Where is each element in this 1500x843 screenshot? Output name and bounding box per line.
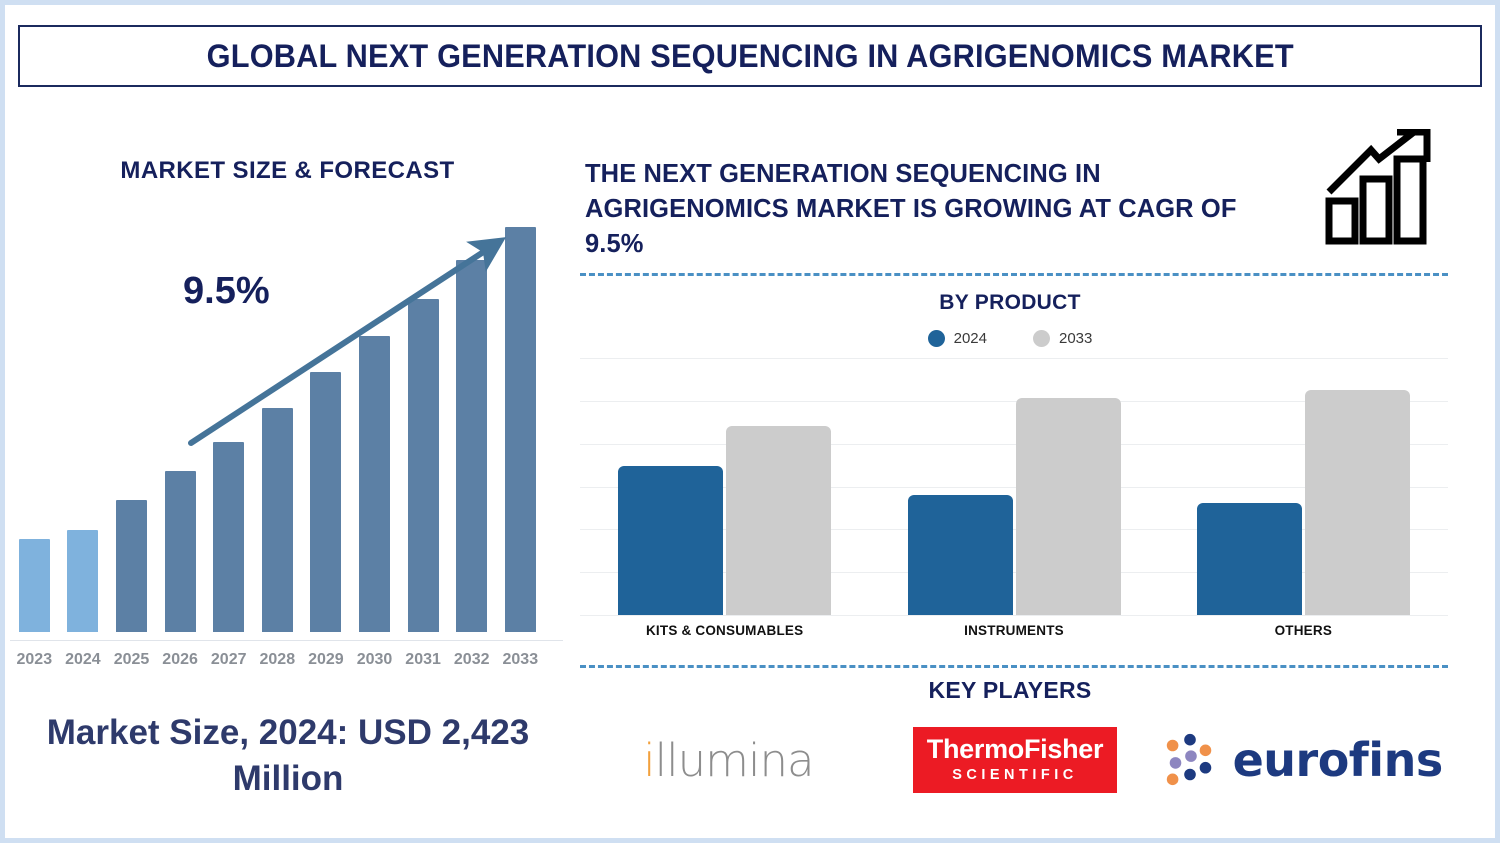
forecast-bar	[213, 442, 244, 632]
thermofisher-logo-line1: ThermoFisher	[927, 736, 1103, 763]
forecast-bar	[456, 260, 487, 632]
chart-legend: 20242033	[575, 330, 1445, 347]
forecast-year-label: 2032	[444, 651, 500, 669]
by-product-title: BY PRODUCT	[575, 291, 1445, 315]
by-product-chart	[580, 358, 1448, 615]
details-panel: THE NEXT GENERATION SEQUENCING IN AGRIGE…	[575, 115, 1495, 840]
category-label: KITS & CONSUMABLES	[580, 623, 869, 638]
legend-item: 2024	[928, 330, 987, 347]
eurofins-logo-mark	[1161, 731, 1219, 789]
forecast-bar	[310, 372, 341, 632]
market-size-panel: MARKET SIZE & FORECAST 9.5% 202320242025…	[5, 115, 570, 840]
eurofins-logo-text: eurofins	[1233, 733, 1443, 787]
forecast-bar	[359, 336, 390, 632]
forecast-year-label: 2027	[201, 651, 257, 669]
logo-thermofisher: ThermoFisher SCIENTIFIC	[875, 715, 1155, 805]
cagr-headline: THE NEXT GENERATION SEQUENCING IN AGRIGE…	[585, 157, 1285, 262]
bar-chart-growth-icon	[1323, 129, 1443, 247]
infographic-page: GLOBAL NEXT GENERATION SEQUENCING IN AGR…	[0, 0, 1500, 843]
product-bar	[726, 426, 831, 615]
page-title-box: GLOBAL NEXT GENERATION SEQUENCING IN AGR…	[18, 25, 1482, 87]
key-players-logos: illumina ThermoFisher SCIENTIFIC	[585, 715, 1445, 805]
forecast-year-label: 2028	[249, 651, 305, 669]
legend-item: 2033	[1033, 330, 1092, 347]
logo-illumina: illumina	[588, 715, 868, 805]
forecast-year-label: 2026	[152, 651, 208, 669]
product-bar	[618, 466, 723, 615]
divider-bottom	[580, 665, 1448, 668]
category-label: INSTRUMENTS	[869, 623, 1158, 638]
product-bar	[908, 495, 1013, 615]
forecast-year-label: 2029	[298, 651, 354, 669]
legend-label: 2024	[954, 330, 987, 347]
illumina-logo-mark: i	[643, 734, 655, 787]
product-bar	[1305, 390, 1410, 615]
forecast-year-label: 2030	[347, 651, 403, 669]
divider-top	[580, 273, 1448, 276]
logo-eurofins: eurofins	[1162, 715, 1442, 805]
forecast-bar	[505, 227, 536, 632]
gridline	[580, 358, 1448, 359]
legend-dot-2033	[1033, 330, 1050, 347]
forecast-year-label: 2023	[6, 651, 62, 669]
cagr-annotation: 9.5%	[183, 270, 270, 313]
product-bar	[1197, 503, 1302, 615]
forecast-bar	[408, 299, 439, 632]
legend-dot-2024	[928, 330, 945, 347]
forecast-year-label: 2033	[492, 651, 548, 669]
forecast-year-label: 2031	[395, 651, 451, 669]
forecast-bar	[165, 471, 196, 632]
forecast-year-label: 2025	[104, 651, 160, 669]
forecast-bar	[262, 408, 293, 632]
market-size-forecast-chart: 9.5% 20232024202520262027202820292030203…	[5, 115, 570, 650]
forecast-bar	[116, 500, 147, 632]
forecast-bar	[67, 530, 98, 632]
gridline	[580, 615, 1448, 616]
product-bar	[1016, 398, 1121, 615]
forecast-bar	[19, 539, 50, 632]
legend-label: 2033	[1059, 330, 1092, 347]
category-label: OTHERS	[1159, 623, 1448, 638]
thermofisher-logo-line2: SCIENTIFIC	[927, 768, 1103, 783]
chart-baseline	[10, 640, 563, 641]
page-title: GLOBAL NEXT GENERATION SEQUENCING IN AGR…	[206, 38, 1293, 75]
market-size-value: Market Size, 2024: USD 2,423 Million	[23, 710, 553, 802]
illumina-logo-text: llumina	[655, 734, 814, 787]
forecast-year-label: 2024	[55, 651, 111, 669]
key-players-title: KEY PLAYERS	[575, 677, 1445, 704]
